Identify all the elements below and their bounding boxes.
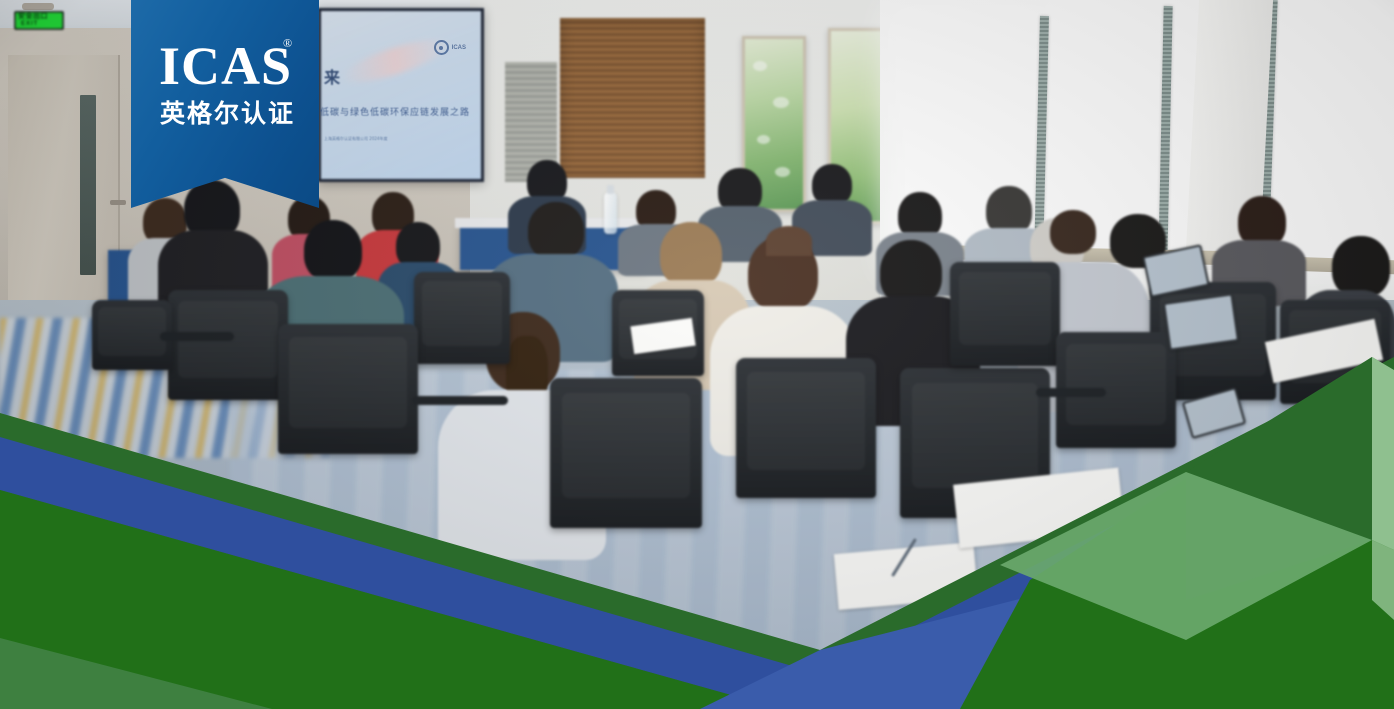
door-window: [80, 95, 96, 275]
chair-armrest: [412, 396, 508, 405]
slide-logo: ICAS: [434, 40, 466, 55]
chair: [278, 324, 418, 454]
icas-logo: ICAS ® 英格尔认证: [131, 0, 319, 208]
window-blinds: [560, 18, 705, 178]
water-bottle: [604, 192, 617, 234]
banner-canvas: 安全出口 EXIT: [0, 0, 1394, 709]
chair: [736, 358, 876, 498]
slide-headline: 来: [324, 64, 340, 88]
chair: [414, 272, 510, 364]
window-pane: [1280, 0, 1394, 265]
person-head: [660, 222, 722, 288]
icas-wordmark: ICAS: [159, 38, 292, 94]
tablet-device: [1163, 293, 1239, 350]
exit-sign-english-text: EXIT: [21, 21, 38, 27]
person-head: [304, 220, 362, 282]
chair: [168, 290, 288, 400]
chair-armrest: [1036, 388, 1106, 397]
exit-sign: 安全出口 EXIT: [14, 11, 64, 30]
registered-trademark-icon: ®: [283, 36, 292, 51]
person-head: [528, 202, 584, 260]
person-head: [766, 226, 812, 256]
door: [8, 55, 120, 310]
slide-footnote: 上海英格尔认证有限公司 2024年度: [324, 136, 387, 142]
exit-sign-chinese-text: 安全出口: [18, 13, 48, 20]
icas-chinese-name: 英格尔认证: [160, 100, 295, 128]
exit-sign-mount: [22, 3, 54, 10]
door-handle: [110, 200, 126, 205]
icas-logo-panel: ICAS ® 英格尔认证: [131, 0, 319, 208]
person-head: [1050, 210, 1096, 254]
slide-subline: 低碳与绿色低碳环保应链发展之路: [320, 105, 470, 118]
person-head: [1332, 236, 1390, 298]
slide-logo-ring-icon: [434, 40, 449, 55]
chair-armrest: [160, 332, 234, 341]
chair: [550, 378, 702, 528]
projection-slide: ICAS 来 低碳与绿色低碳环保应链发展之路 上海英格尔认证有限公司 2024年…: [318, 8, 478, 176]
chair: [950, 262, 1060, 366]
slide-logo-text: ICAS: [452, 45, 466, 51]
